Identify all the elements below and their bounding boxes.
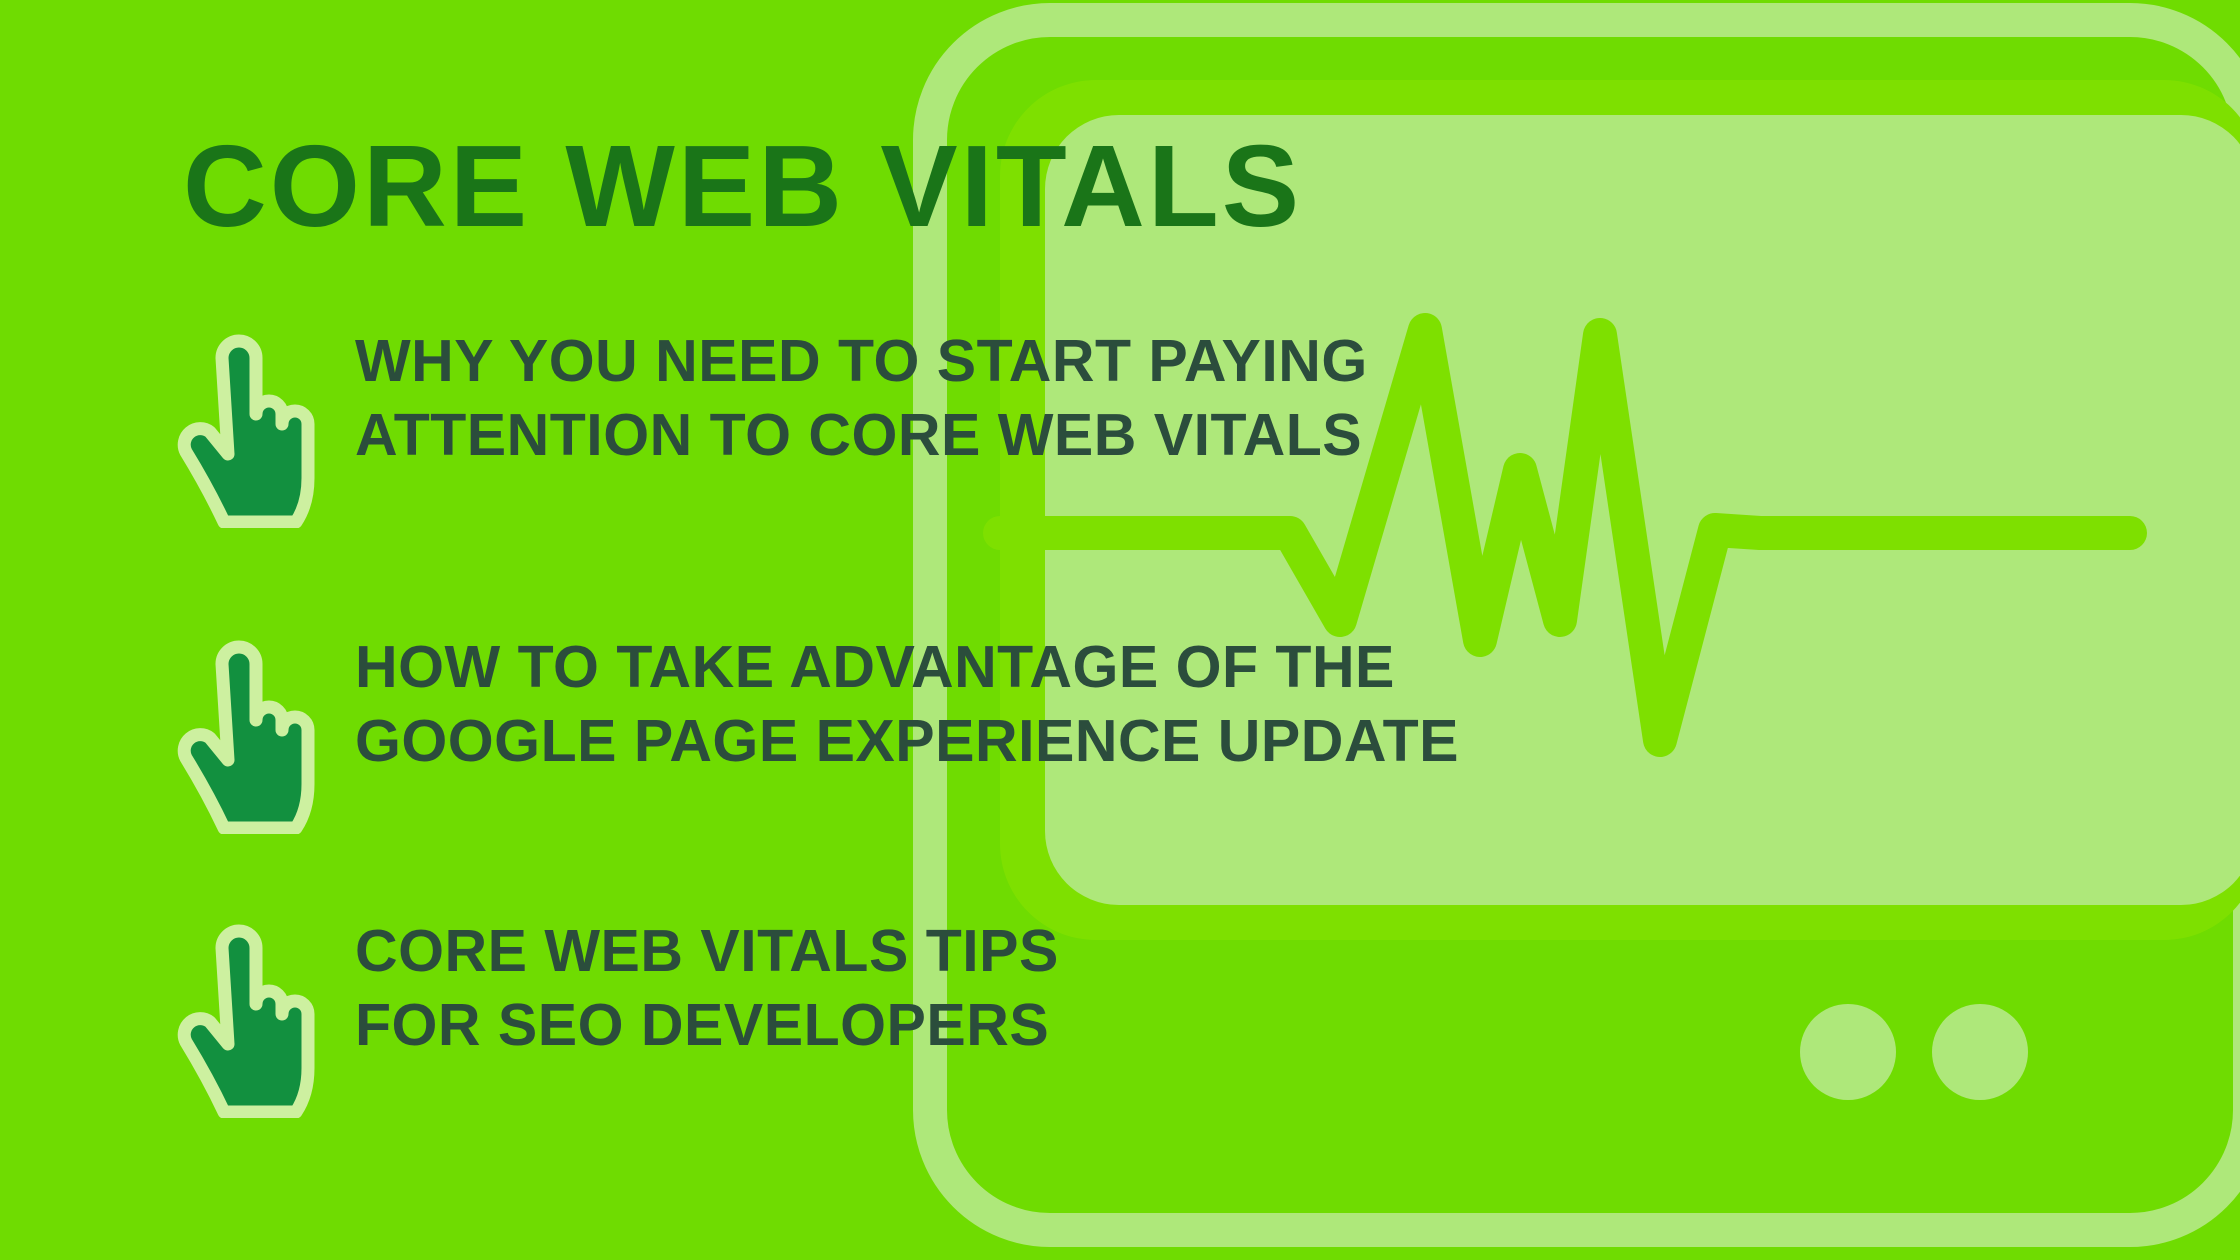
bullet-text: CORE WEB VITALS TIPS FOR SEO DEVELOPERS <box>355 914 1059 1063</box>
page-title: CORE WEB VITALS <box>183 128 1302 244</box>
bullet-line: CORE WEB VITALS TIPS <box>355 914 1059 988</box>
poster-canvas: CORE WEB VITALS WHY YOU NEED TO START PA… <box>0 0 2240 1260</box>
pointing-hand-icon <box>176 918 316 1118</box>
bullet-line: FOR SEO DEVELOPERS <box>355 988 1059 1062</box>
bullet-item: CORE WEB VITALS TIPS FOR SEO DEVELOPERS <box>176 914 1059 1118</box>
pointing-hand-icon <box>176 328 316 528</box>
bullet-line: WHY YOU NEED TO START PAYING <box>355 324 1368 398</box>
pointing-hand-icon <box>176 634 316 834</box>
bullet-line: HOW TO TAKE ADVANTAGE OF THE <box>355 630 1459 704</box>
bullet-item: WHY YOU NEED TO START PAYING ATTENTION T… <box>176 324 1368 528</box>
bullet-item: HOW TO TAKE ADVANTAGE OF THE GOOGLE PAGE… <box>176 630 1459 834</box>
bullet-text: WHY YOU NEED TO START PAYING ATTENTION T… <box>355 324 1368 473</box>
bullet-line: GOOGLE PAGE EXPERIENCE UPDATE <box>355 704 1459 778</box>
content-layer: CORE WEB VITALS WHY YOU NEED TO START PA… <box>0 0 2240 1260</box>
bullet-text: HOW TO TAKE ADVANTAGE OF THE GOOGLE PAGE… <box>355 630 1459 779</box>
bullet-line: ATTENTION TO CORE WEB VITALS <box>355 398 1368 472</box>
